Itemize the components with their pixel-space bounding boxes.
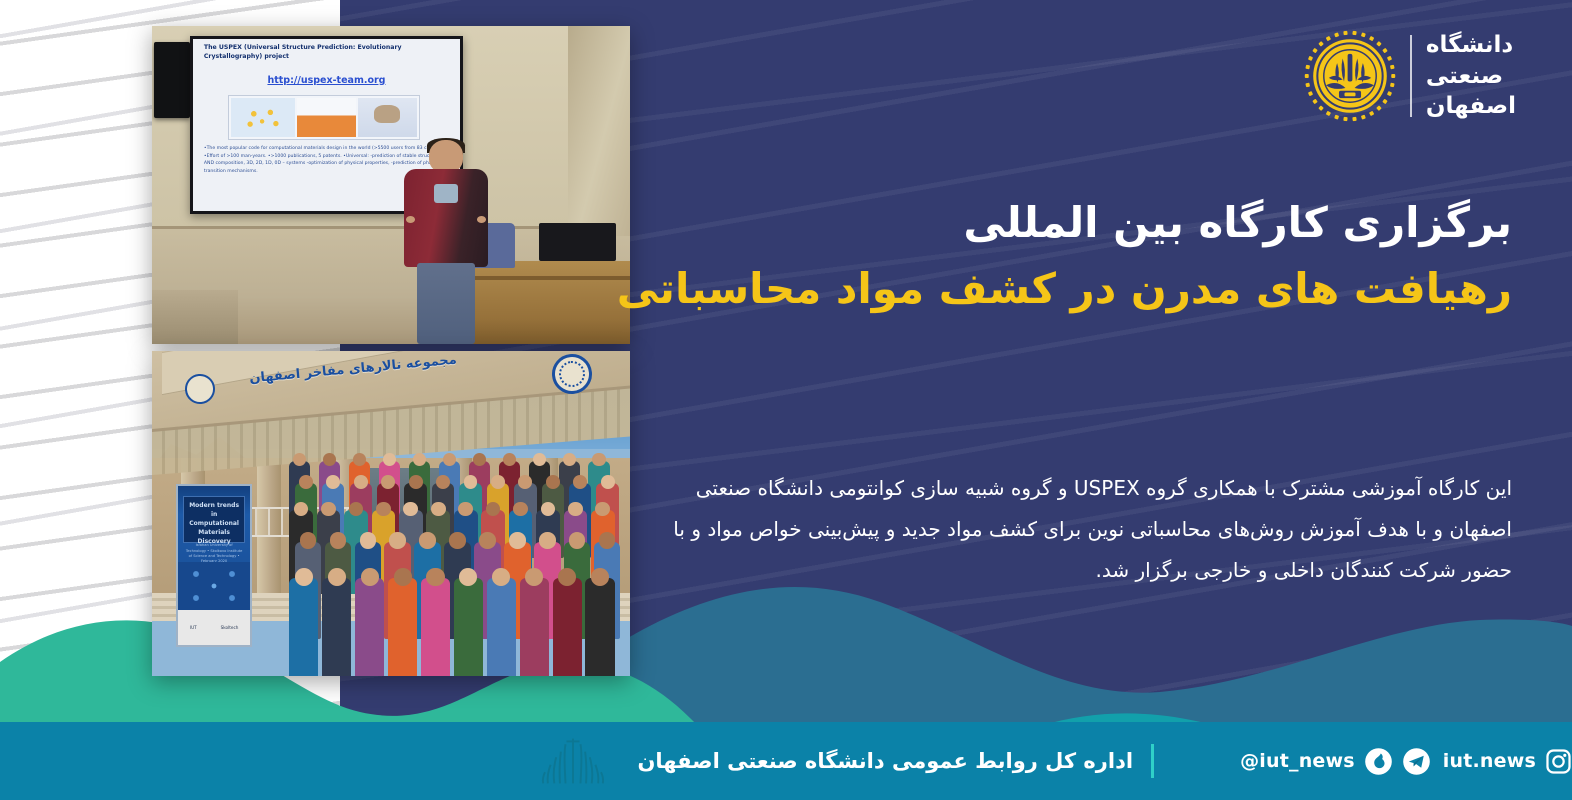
participant-head (354, 475, 368, 489)
university-name-line-3: اصفهان (1426, 91, 1516, 121)
banner-logo-iut: IUT (190, 625, 197, 630)
workshop-participants (286, 449, 625, 670)
participant (454, 578, 483, 676)
lecture-photo: The USPEX (Universal Structure Predictio… (152, 26, 630, 344)
brand-divider (1410, 35, 1412, 117)
participant-head (403, 502, 418, 516)
telegram-icon[interactable] (1402, 747, 1431, 776)
public-relations-label: اداره کل روابط عمومی دانشگاه صنعتی اصفها… (638, 749, 1134, 773)
headline-line-2: رهیافت های مدرن در کشف مواد محاسباتی (732, 262, 1512, 316)
participant-head (546, 475, 560, 489)
event-banner: Modern trends in Computational Materials… (176, 484, 252, 647)
instagram-handle: iut.news (1443, 750, 1536, 772)
participant-head (389, 532, 405, 548)
instagram-icon[interactable] (1545, 748, 1572, 775)
speaker-shirt (434, 184, 457, 204)
participant (585, 578, 614, 676)
participant (487, 578, 516, 676)
participant-head (330, 532, 346, 548)
participant (322, 578, 351, 676)
participant-head (431, 502, 446, 516)
participant-head (328, 568, 346, 586)
participant-head (541, 502, 556, 516)
group-photo-scene: مجموعه تالارهای مفاخر اصفهان Modern tren… (152, 351, 630, 676)
participant-head (568, 502, 583, 516)
participant-head (459, 568, 477, 586)
participant-head (443, 453, 456, 466)
headline-line-1: برگزاری کارگاه بین المللی (732, 196, 1512, 250)
participant-head (413, 453, 426, 466)
slide-url: http://uspex-team.org (193, 75, 459, 86)
participant-head (558, 568, 576, 586)
slide-thumb-text (297, 98, 356, 137)
side-desk (152, 290, 238, 344)
desk-monitor (539, 223, 615, 261)
banner-logo-row: IUT Skoltech (178, 610, 250, 645)
participant-head (293, 453, 306, 466)
iut-monument-icon (534, 733, 612, 789)
banner-logo-skoltech: Skoltech (221, 625, 239, 630)
participant-head (473, 453, 486, 466)
instagram-link[interactable]: iut.news (1443, 748, 1572, 775)
participant-head (492, 568, 510, 586)
group-photo: مجموعه تالارهای مفاخر اصفهان Modern tren… (152, 351, 630, 676)
participant-head (601, 475, 615, 489)
slide-screenshot-strip (228, 95, 420, 140)
university-name-line-2: صنعتی (1426, 61, 1503, 91)
speaker-jacket (404, 169, 488, 267)
participant (553, 578, 582, 676)
participant-head (513, 502, 528, 516)
slide-title: The USPEX (Universal Structure Predictio… (204, 44, 449, 62)
lecture-hall-scene: The USPEX (Universal Structure Predictio… (152, 26, 630, 344)
participant-head (591, 568, 609, 586)
participant-head (321, 502, 336, 516)
participant-head (361, 568, 379, 586)
iut-gear-emblem-icon (1304, 30, 1396, 122)
social-links-group: iut.news @iut_news (1190, 747, 1572, 776)
university-name: دانشگاه صنعتی اصفهان (1426, 30, 1516, 121)
participant-head (599, 532, 615, 548)
participant-head (409, 475, 423, 489)
participant-head (569, 532, 585, 548)
university-name-line-1: دانشگاه (1426, 30, 1513, 60)
participant-head (353, 453, 366, 466)
messenger-handle: @iut_news (1240, 750, 1355, 772)
speaker-person (401, 140, 492, 344)
participant-head (518, 475, 532, 489)
participant-head (394, 568, 412, 586)
speaker-jeans (417, 263, 475, 344)
speaker-hand-left (406, 216, 415, 223)
participant-head (458, 502, 473, 516)
participant-head (533, 453, 546, 466)
participant (520, 578, 549, 676)
participant-head (563, 453, 576, 466)
speaker-hand-right (477, 216, 486, 223)
participant-head (326, 475, 340, 489)
footer-bar: iut.news @iut_news اداره کل رواب (0, 722, 1572, 800)
participant (289, 578, 318, 676)
participant-head (360, 532, 376, 548)
participant-head (573, 475, 587, 489)
participant-head (539, 532, 555, 548)
poster-canvas: The USPEX (Universal Structure Predictio… (0, 0, 1572, 800)
participant-head (381, 475, 395, 489)
participant-head (376, 502, 391, 516)
participant-head (491, 475, 505, 489)
participant-head (300, 532, 316, 548)
participant (355, 578, 384, 676)
university-logo-block: دانشگاه صنعتی اصفهان (1304, 30, 1516, 122)
hall-corner-wall (568, 26, 630, 236)
event-banner-title: Modern trends in Computational Materials… (183, 496, 245, 544)
participant-head (383, 453, 396, 466)
body-paragraph: این کارگاه آموزشی مشترک با همکاری گروه U… (672, 468, 1512, 591)
slide-thumb-portrait (358, 98, 417, 137)
participant-head (503, 453, 516, 466)
participant-head (595, 502, 610, 516)
participant-head (323, 453, 336, 466)
participant-head (449, 532, 465, 548)
footer-divider (1151, 744, 1154, 778)
wall-monitor-icon (154, 42, 190, 118)
banner-islamic-pattern (178, 562, 250, 610)
slide-thumb-crystal (231, 98, 296, 137)
bale-icon[interactable] (1364, 747, 1393, 776)
participant-head (299, 475, 313, 489)
participant-head (525, 568, 543, 586)
participant-head (592, 453, 605, 466)
participant-head (479, 532, 495, 548)
participant-head (295, 568, 313, 586)
messenger-links[interactable]: @iut_news (1240, 747, 1431, 776)
participant-head (419, 532, 435, 548)
participant-head (464, 475, 478, 489)
participant-head (426, 568, 444, 586)
participant (421, 578, 450, 676)
participant-head (509, 532, 525, 548)
headline-block: برگزاری کارگاه بین المللی رهیافت های مدر… (732, 196, 1512, 316)
participant (388, 578, 417, 676)
participant-head (436, 475, 450, 489)
participant-head (349, 502, 364, 516)
